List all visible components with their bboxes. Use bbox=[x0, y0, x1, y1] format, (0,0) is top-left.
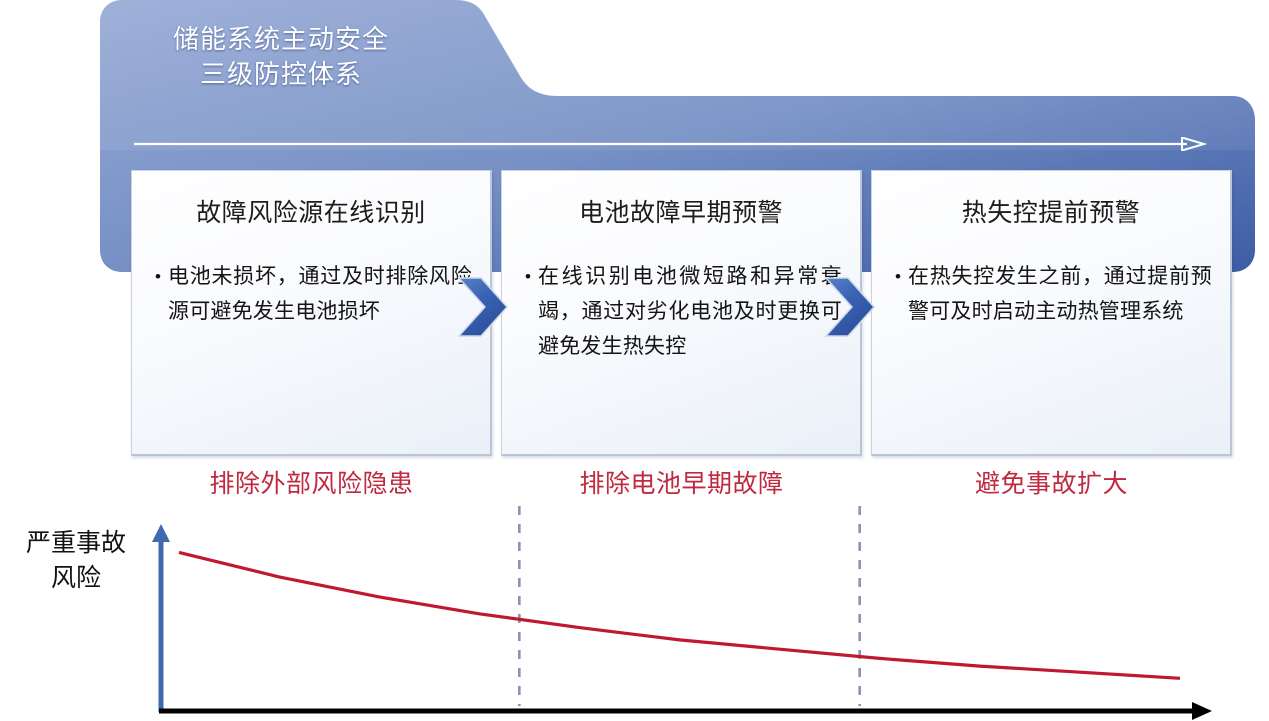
caption-external-risk: 排除外部风险隐患 bbox=[131, 466, 492, 506]
panel-row: 故障风险源在线识别 • 电池未损坏，通过及时排除风险源可避免发生电池损坏 电池故… bbox=[131, 170, 1232, 456]
panel-header-2: 电池故障早期预警 bbox=[502, 171, 860, 251]
panel-bullet-text-2: 在线识别电池微短路和异常衰竭，通过对劣化电池及时更换可避免发生热失控 bbox=[538, 259, 842, 364]
panel-body-3: • 在热失控发生之前，通过提前预警可及时启动主动热管理系统 bbox=[872, 251, 1230, 339]
risk-decay-chart: 严重事故 风险 bbox=[0, 506, 1269, 721]
right-arrow-icon bbox=[132, 137, 1207, 151]
page-title: 储能系统主动安全 三级防控体系 bbox=[126, 22, 436, 92]
panel-header-3: 热失控提前预警 bbox=[872, 171, 1230, 251]
chevron-right-icon-1 bbox=[457, 276, 509, 338]
chevron-right-icon-2 bbox=[824, 276, 876, 338]
caption-accident-escalation: 避免事故扩大 bbox=[871, 466, 1232, 506]
bullet-marker-icon-3: • bbox=[888, 259, 908, 329]
caption-row: 排除外部风险隐患 排除电池早期故障 避免事故扩大 bbox=[131, 466, 1232, 506]
panel-body-1: • 电池未损坏，通过及时排除风险源可避免发生电池损坏 bbox=[132, 251, 490, 339]
panel-body-2: • 在线识别电池微短路和异常衰竭，通过对劣化电池及时更换可避免发生热失控 bbox=[502, 251, 860, 374]
bullet-marker-icon-1: • bbox=[148, 259, 168, 329]
risk-curve-line bbox=[179, 552, 1180, 678]
panel-fault-risk-identification[interactable]: 故障风险源在线识别 • 电池未损坏，通过及时排除风险源可避免发生电池损坏 bbox=[131, 170, 492, 456]
chart-canvas bbox=[0, 506, 1269, 721]
panel-bullet-text-3: 在热失控发生之前，通过提前预警可及时启动主动热管理系统 bbox=[908, 259, 1212, 329]
chart-dashed-lines bbox=[519, 506, 859, 706]
panel-bullet-text-1: 电池未损坏，通过及时排除风险源可避免发生电池损坏 bbox=[168, 259, 472, 329]
bullet-marker-icon-2: • bbox=[518, 259, 538, 364]
caption-early-fault: 排除电池早期故障 bbox=[501, 466, 862, 506]
panel-header-1: 故障风险源在线识别 bbox=[132, 171, 490, 251]
panel-battery-early-warning[interactable]: 电池故障早期预警 • 在线识别电池微短路和异常衰竭，通过对劣化电池及时更换可避免… bbox=[501, 170, 862, 456]
chart-y-axis bbox=[152, 524, 170, 712]
chart-x-axis bbox=[159, 702, 1212, 720]
panel-thermal-runaway-warning[interactable]: 热失控提前预警 • 在热失控发生之前，通过提前预警可及时启动主动热管理系统 bbox=[871, 170, 1232, 456]
